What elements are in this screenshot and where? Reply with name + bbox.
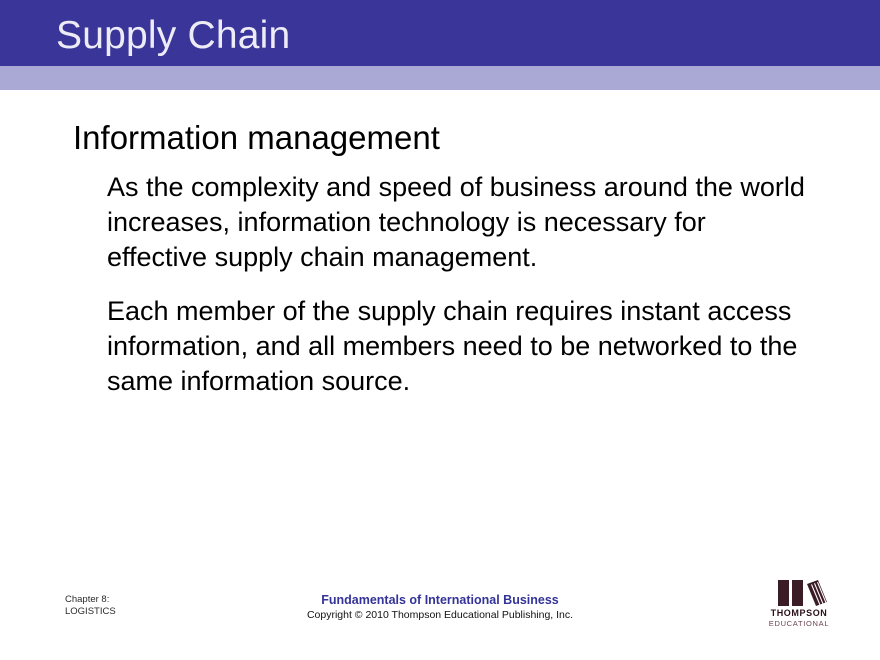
body-paragraph-1: As the complexity and speed of business … (107, 170, 807, 275)
logo-wordmark: THOMPSON (756, 608, 842, 619)
copyright-notice: Copyright © 2010 Thompson Educational Pu… (0, 608, 880, 622)
body-paragraph-2: Each member of the supply chain requires… (107, 294, 807, 399)
thompson-books-logo-icon (756, 578, 842, 608)
publisher-logo: THOMPSON EDUCATIONAL (756, 578, 842, 634)
slide: Supply Chain Information management As t… (0, 0, 880, 660)
slide-body: Information management As the complexity… (0, 90, 880, 570)
footer-credits: Fundamentals of International Business C… (0, 592, 880, 622)
slide-title: Supply Chain (56, 13, 290, 59)
section-heading: Information management (73, 118, 440, 158)
slide-footer: Chapter 8: LOGISTICS Fundamentals of Int… (0, 570, 880, 660)
book-title: Fundamentals of International Business (0, 592, 880, 608)
header-accent-band (0, 66, 880, 90)
logo-subtitle: EDUCATIONAL (756, 619, 842, 629)
